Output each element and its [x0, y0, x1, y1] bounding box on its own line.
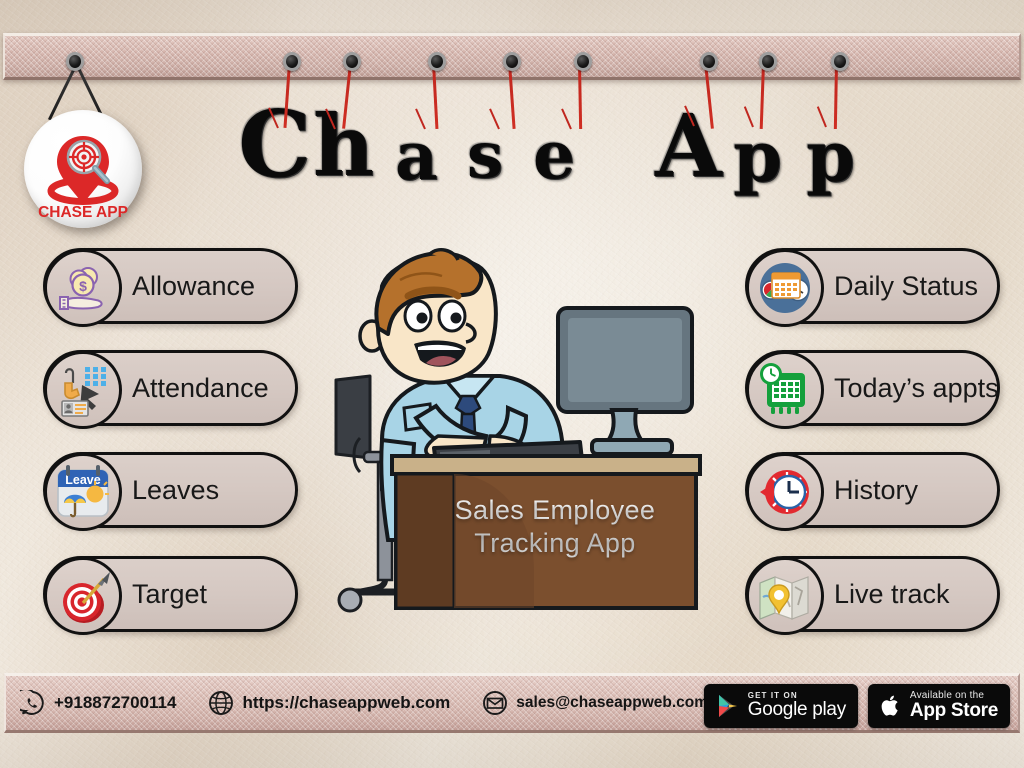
svg-text:$: $: [79, 278, 87, 294]
footer-bar: +918872700114 https://chaseappweb.com sa…: [4, 673, 1020, 733]
top-banner: [3, 33, 1021, 80]
menu-button-history[interactable]: History: [745, 452, 1000, 528]
menu-button-daily-status[interactable]: Daily Status: [745, 248, 1000, 324]
menu-button-leaves[interactable]: Leave Leaves: [43, 452, 298, 528]
apple-icon: [880, 693, 902, 719]
businessman-at-desk-illustration: [330, 240, 720, 640]
folded-map-pin-icon: [746, 557, 824, 635]
whatsapp-icon: [20, 690, 46, 716]
contact-email-text: sales@chaseappweb.com: [516, 694, 708, 712]
menu-label-history: History: [834, 475, 918, 506]
calendar-clock-icon: [746, 249, 824, 327]
hand-coins-icon: $: [44, 249, 122, 327]
contact-phone-text: +918872700114: [54, 693, 176, 713]
contact-website-text: https://chaseappweb.com: [242, 693, 450, 713]
desk: [392, 456, 700, 608]
businessman-head: [360, 250, 496, 383]
contact-phone[interactable]: +918872700114: [20, 690, 176, 716]
google-play-text: GET IT ON Google play: [748, 692, 846, 720]
clock-rewind-icon: [746, 453, 824, 531]
menu-label-daily-status: Daily Status: [834, 271, 978, 302]
app-store-badge[interactable]: Available on the App Store: [868, 684, 1010, 728]
logo-wordmark: CHASE APP: [38, 204, 128, 221]
computer-monitor: [558, 308, 692, 454]
menu-button-target[interactable]: Target: [43, 556, 298, 632]
menu-button-live-track[interactable]: Live track: [745, 556, 1000, 632]
store-badges: GET IT ON Google play Available on the A…: [704, 684, 1010, 728]
app-store-text: Available on the App Store: [910, 691, 998, 721]
google-play-name: Google play: [748, 700, 846, 720]
menu-button-attendance[interactable]: Attendance: [43, 350, 298, 426]
menu-label-todays-appts: Today’s appts: [834, 373, 999, 404]
leave-calendar-umbrella-icon: Leave: [44, 453, 122, 531]
poster-canvas: C h a s e A p p CHASE APP: [0, 0, 1024, 768]
chase-app-logo[interactable]: CHASE APP: [24, 110, 142, 228]
green-calendar-clock-icon: [746, 351, 824, 429]
contact-website[interactable]: https://chaseappweb.com: [208, 690, 450, 716]
menu-label-allowance: Allowance: [132, 271, 255, 302]
menu-button-allowance[interactable]: $ Allowance: [43, 248, 298, 324]
contact-email[interactable]: sales@chaseappweb.com: [482, 690, 708, 716]
envelope-icon: [482, 690, 508, 716]
menu-button-todays-appts[interactable]: Today’s appts: [745, 350, 1000, 426]
menu-label-attendance: Attendance: [132, 373, 269, 404]
logo-artwork: CHASE APP: [24, 110, 142, 228]
fingerprint-punch-icon: [44, 351, 122, 429]
menu-label-leaves: Leaves: [132, 475, 219, 506]
google-play-badge[interactable]: GET IT ON Google play: [704, 684, 858, 728]
menu-label-live-track: Live track: [834, 579, 950, 610]
dartboard-arrow-icon: [44, 557, 122, 635]
app-store-name: App Store: [910, 701, 998, 721]
menu-label-target: Target: [132, 579, 207, 610]
google-play-icon: [716, 693, 740, 719]
globe-icon: [208, 690, 234, 716]
